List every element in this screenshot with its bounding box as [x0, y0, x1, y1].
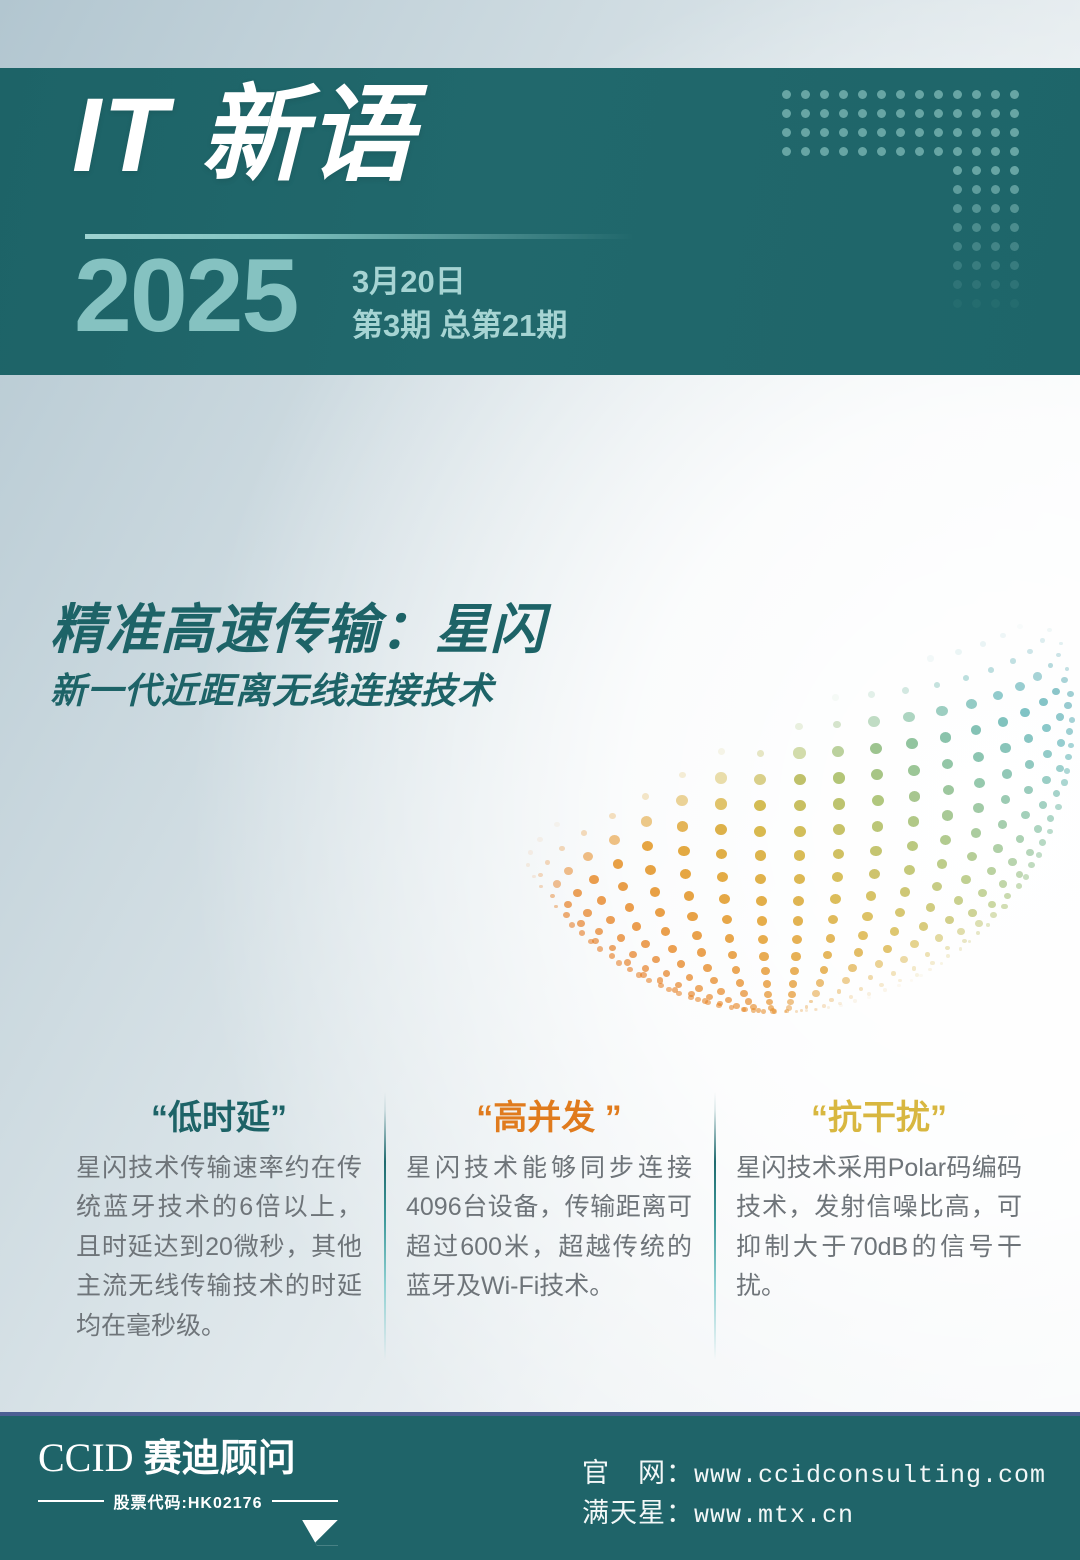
- stock-code-label: 股票代码:HK02176: [114, 1489, 263, 1513]
- feature-body: 星闪技术采用Polar码编码技术，发射信噪比高，可抑制大于70dB的信号干扰。: [736, 1149, 1022, 1307]
- feature-card-low-latency: “低时延” 星闪技术传输速率约在传统蓝牙技术的6倍以上，且时延达到20微秒，其他…: [54, 1098, 384, 1373]
- halftone-sphere-graphic: [470, 400, 1080, 1040]
- logo-en: CCID: [38, 1435, 134, 1480]
- feature-card-high-concurrency: “高并发 ” 星闪技术能够同步连接4096台设备，传输距离可超过600米，超越传…: [384, 1098, 714, 1373]
- mtx-site-url[interactable]: www.mtx.cn: [694, 1501, 854, 1530]
- issue-meta: 3月20日 第3期 总第21期: [352, 260, 567, 348]
- footer-contact-block: 官 网：www.ccidconsulting.com 满天星：www.mtx.c…: [582, 1454, 1046, 1534]
- feature-columns: “低时延” 星闪技术传输速率约在传统蓝牙技术的6倍以上，且时延达到20微秒，其他…: [54, 1098, 1044, 1373]
- issue-number: 第3期 总第21期: [352, 304, 567, 348]
- feature-card-anti-interference: “抗干扰” 星闪技术采用Polar码编码技术，发射信噪比高，可抑制大于70dB的…: [714, 1098, 1044, 1373]
- logo-wordmark: CCID 赛迪顾问: [38, 1436, 338, 1481]
- rule-right: [272, 1500, 338, 1502]
- logo-cn: 赛迪顾问: [144, 1438, 296, 1480]
- feature-title: “高并发 ”: [406, 1098, 692, 1139]
- column-divider: [384, 1092, 386, 1360]
- issue-year: 2025: [74, 244, 297, 348]
- headline-block: 精准高速传输：星闪 新一代近距离无线连接技术: [50, 600, 670, 715]
- page-title: 精准高速传输：星闪: [50, 600, 670, 660]
- official-site-row: 官 网：www.ccidconsulting.com: [582, 1454, 1046, 1494]
- banner-notch-icon: [312, 1520, 338, 1546]
- ccid-logo-block: CCID 赛迪顾问 股票代码:HK02176 思维创造世界: [38, 1436, 338, 1546]
- feature-body: 星闪技术传输速率约在传统蓝牙技术的6倍以上，且时延达到20微秒，其他主流无线传输…: [76, 1149, 362, 1347]
- poster-root: IT 新语 2025 3月20日 第3期 总第21期 精准高速传输：星闪 新一代…: [0, 0, 1080, 1560]
- mtx-site-row: 满天星：www.mtx.cn: [582, 1494, 1046, 1534]
- issue-date: 3月20日: [352, 260, 567, 304]
- footer-band: CCID 赛迪顾问 股票代码:HK02176 思维创造世界 官 网：www.cc…: [0, 1416, 1080, 1560]
- logo-slogan-banner: 思维创造世界: [38, 1520, 338, 1546]
- feature-title: “低时延”: [76, 1098, 362, 1139]
- feature-title: “抗干扰”: [736, 1098, 1022, 1139]
- decorative-dot-grid: [782, 90, 1040, 358]
- column-divider: [714, 1092, 716, 1360]
- page-subtitle: 新一代近距离无线连接技术: [50, 668, 670, 715]
- header-band: IT 新语 2025 3月20日 第3期 总第21期: [0, 68, 1080, 375]
- feature-body: 星闪技术能够同步连接4096台设备，传输距离可超过600米，超越传统的蓝牙及Wi…: [406, 1149, 692, 1307]
- official-site-url[interactable]: www.ccidconsulting.com: [694, 1461, 1046, 1490]
- stock-code-row: 股票代码:HK02176: [38, 1489, 338, 1513]
- rule-left: [38, 1500, 104, 1502]
- logo-slogan-text: 思维创造世界: [122, 1522, 254, 1543]
- official-site-label: 官 网：: [582, 1458, 694, 1488]
- mtx-site-label: 满天星：: [582, 1498, 694, 1528]
- brand-title: IT 新语: [72, 78, 414, 194]
